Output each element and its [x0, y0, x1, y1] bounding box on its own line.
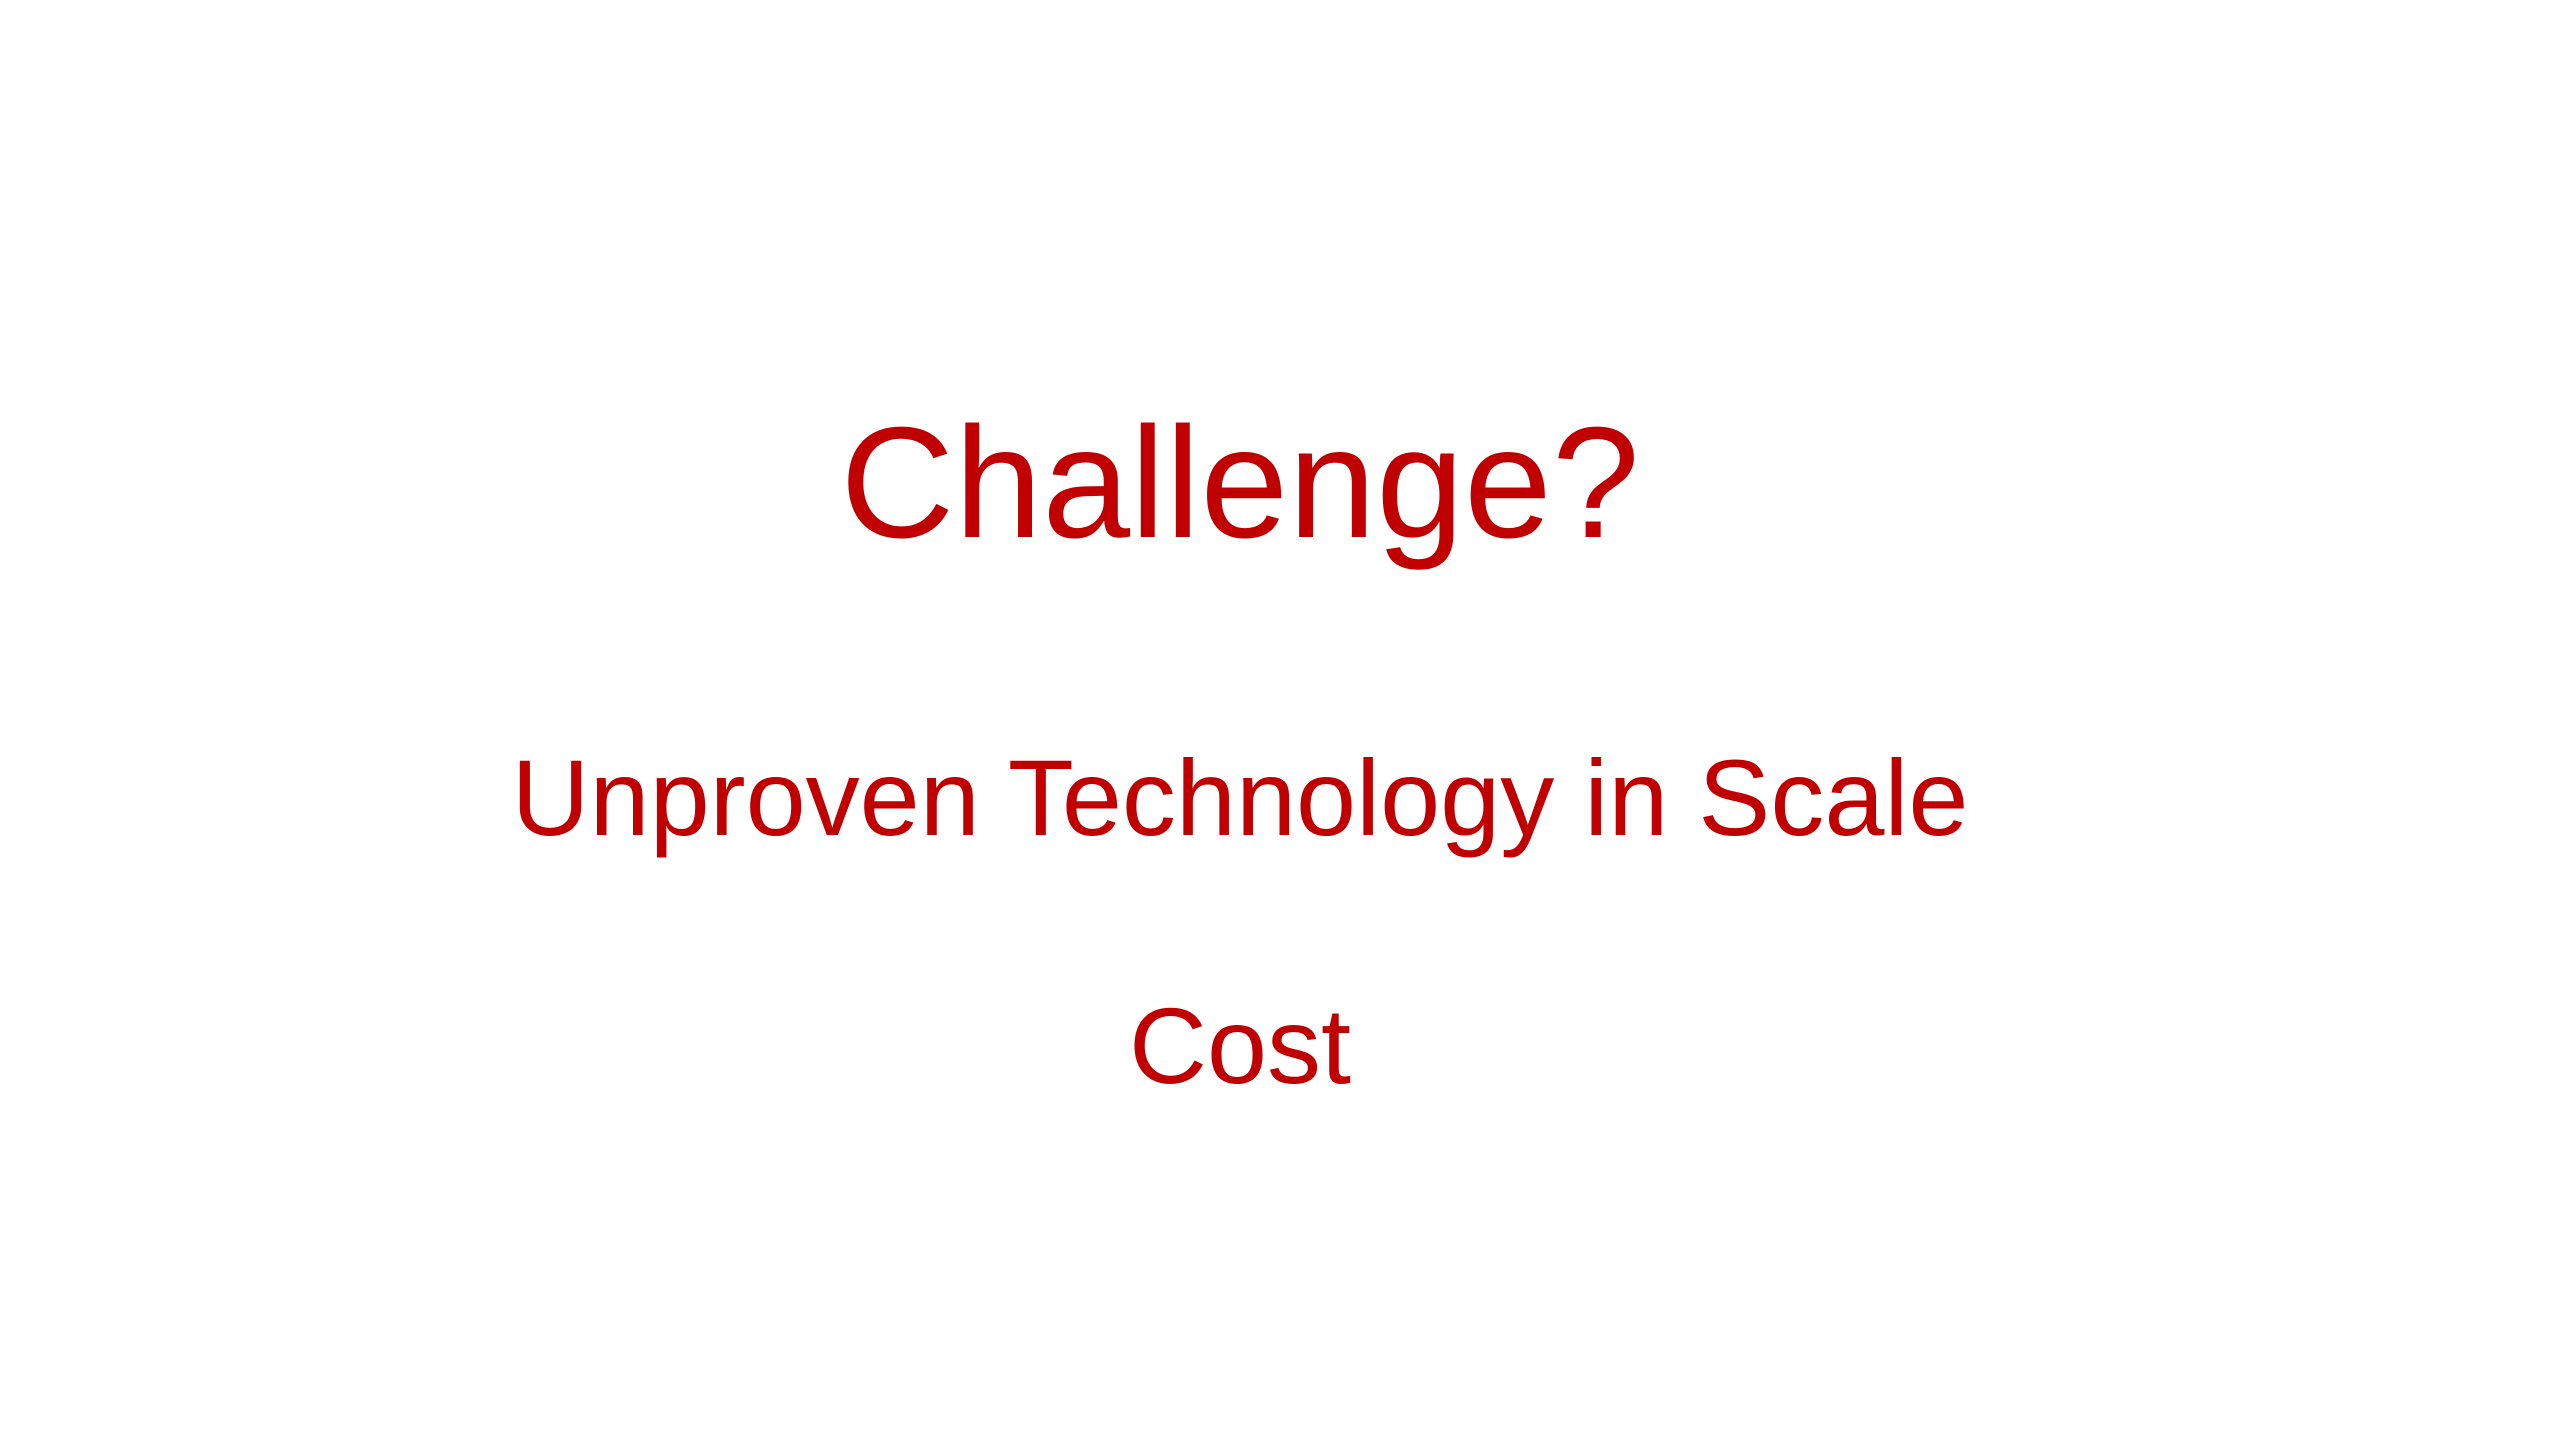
slide-text-block: Challenge? Unproven Technology in Scale … — [0, 0, 2480, 1440]
slide-body-line-2: Cost — [1129, 992, 1351, 1100]
presentation-slide: Challenge? Unproven Technology in Scale … — [0, 0, 2560, 1440]
page-title: Challenge? — [840, 404, 1639, 562]
slide-body-line-1: Unproven Technology in Scale — [512, 744, 1969, 852]
